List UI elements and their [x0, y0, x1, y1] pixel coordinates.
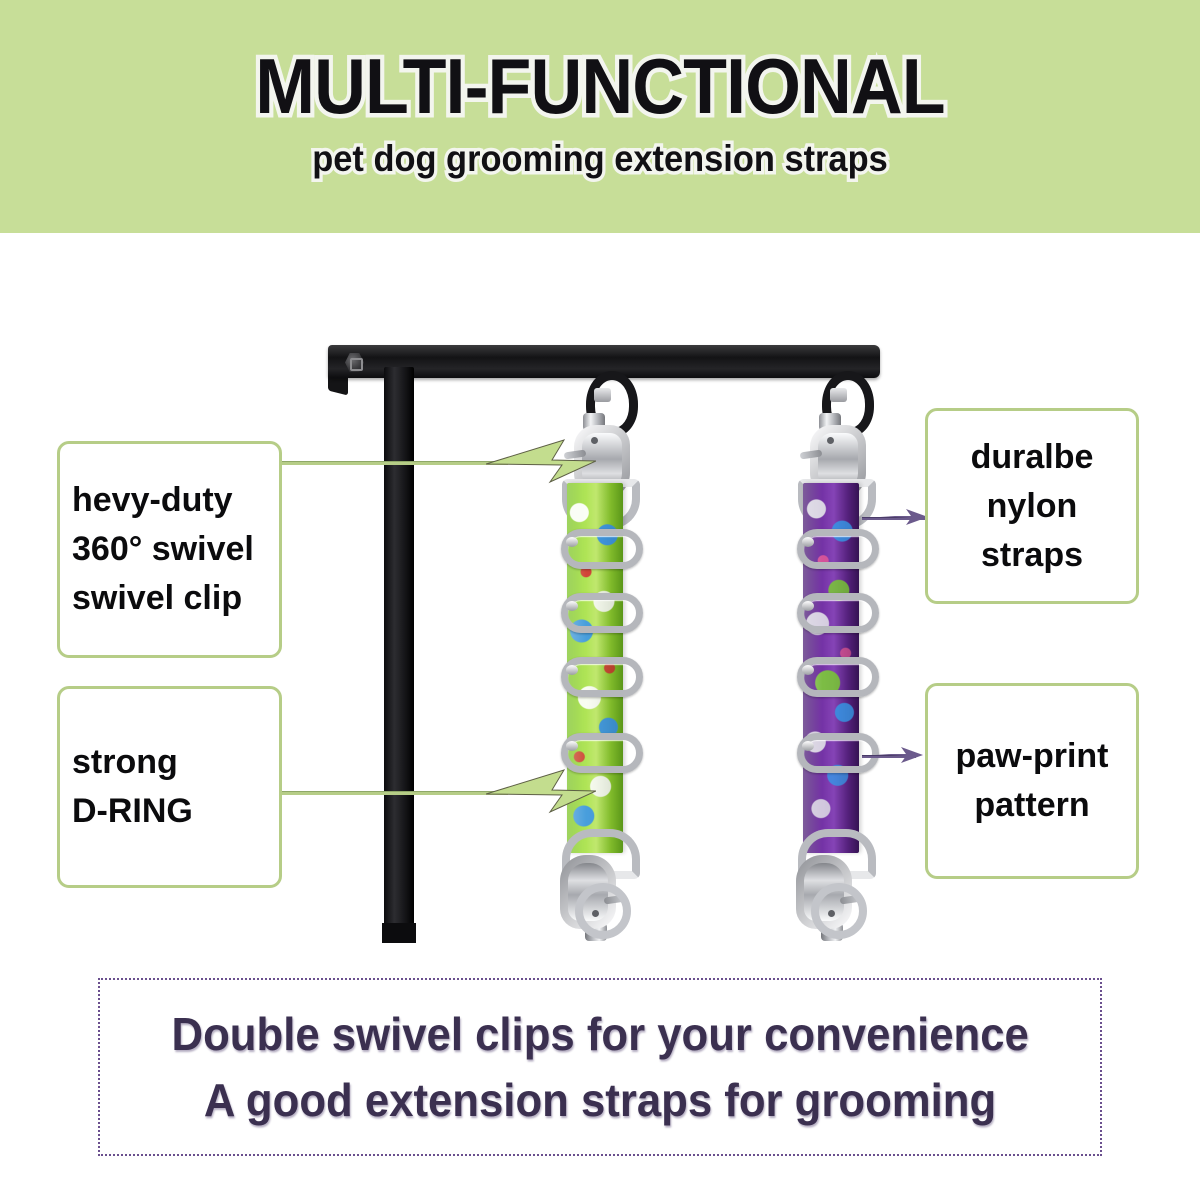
stand-post-foot	[382, 923, 416, 943]
dring-green-1	[561, 529, 643, 569]
hanger-bead-left	[594, 388, 611, 402]
footer-line-2: A good extension straps for grooming	[204, 1067, 996, 1133]
callout-paw-print-pattern[interactable]: paw-print pattern	[925, 683, 1139, 879]
callout-line: hevy-duty	[72, 476, 267, 525]
hanger-bead-right	[830, 388, 847, 402]
callout-line: swivel clip	[72, 574, 267, 623]
callout-line: 360° swivel	[72, 525, 267, 574]
arrow-right-green-bottom	[486, 762, 596, 820]
callout-line: pattern	[940, 781, 1124, 830]
page-title: MULTI-FUNCTIONAL	[48, 44, 1152, 128]
callout-line: duralbe	[940, 433, 1124, 482]
arrow-right-green-top	[486, 432, 596, 490]
dring-green-2	[561, 593, 643, 633]
dring-purple-4	[797, 733, 879, 773]
dring-purple-1	[797, 529, 879, 569]
callout-line: strong	[72, 738, 267, 787]
arrow-left-purple-top	[880, 506, 928, 528]
callout-line: nylon	[940, 482, 1124, 531]
callout-line: D-RING	[72, 787, 267, 836]
callout-line: straps	[940, 531, 1124, 580]
dring-green-3	[561, 657, 643, 697]
leader-line-hevy-duty	[278, 461, 508, 465]
callout-hevy-duty-swivel[interactable]: hevy-duty 360° swivel swivel clip	[57, 441, 282, 658]
dring-purple-3	[797, 657, 879, 697]
clip-pin	[827, 437, 834, 444]
dring-purple-2	[797, 593, 879, 633]
arrow-left-purple-bottom	[875, 744, 923, 766]
leader-line-strong-dring	[278, 791, 508, 795]
callout-strong-dring[interactable]: strong D-RING	[57, 686, 282, 888]
page-subtitle: pet dog grooming extension straps	[42, 138, 1158, 180]
clip-eye-purple-bottom	[811, 883, 867, 939]
stand-vertical-post	[384, 367, 414, 940]
clip-eye-green-bottom	[575, 883, 631, 939]
callout-line: paw-print	[940, 732, 1124, 781]
footer-tagline-box: Double swivel clips for your convenience…	[98, 978, 1102, 1156]
header-banner: MULTI-FUNCTIONAL pet dog grooming extens…	[0, 0, 1200, 233]
callout-duralbe-nylon-straps[interactable]: duralbe nylon straps	[925, 408, 1139, 604]
hex-bolt-core-icon	[350, 358, 363, 371]
footer-line-1: Double swivel clips for your convenience	[171, 1001, 1028, 1067]
